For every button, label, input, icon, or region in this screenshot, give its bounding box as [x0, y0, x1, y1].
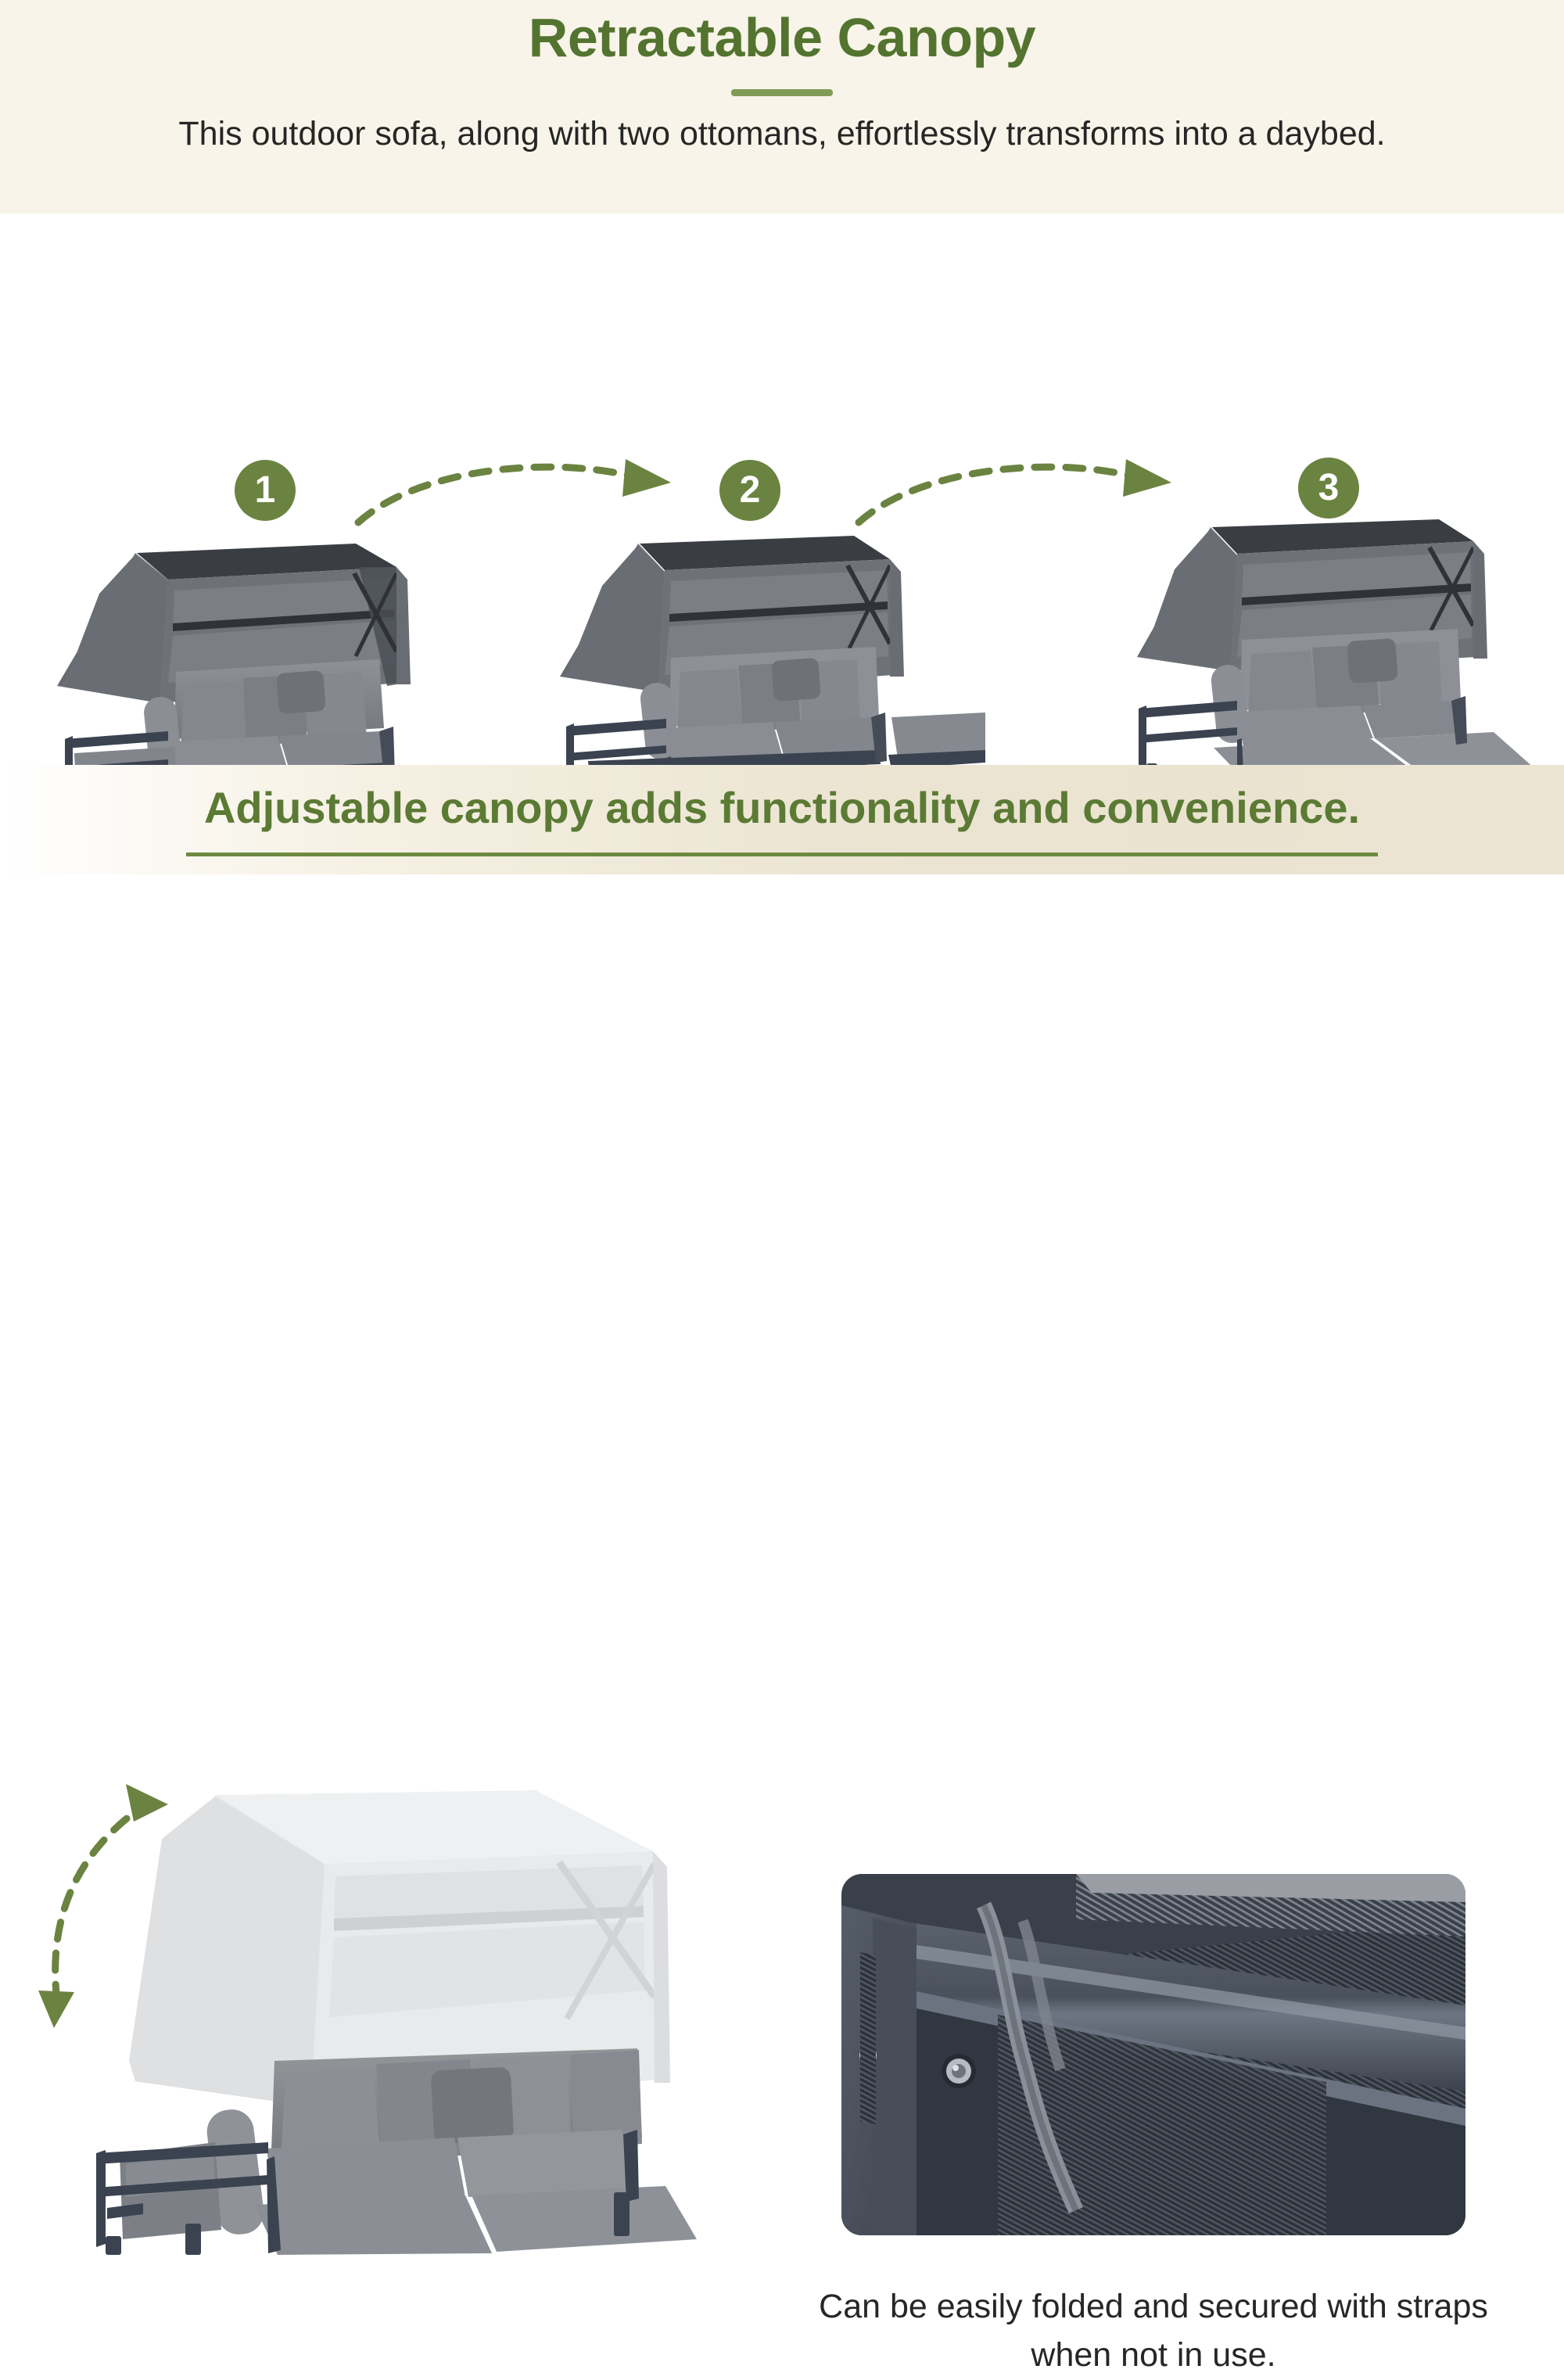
product-image-adjustable-canopy	[20, 1770, 723, 2255]
steps-section: 1 2 3	[0, 214, 1564, 765]
infographic-page: Retractable Canopy This outdoor sofa, al…	[0, 0, 1564, 1564]
page-subtitle: This outdoor sofa, along with two ottoma…	[0, 109, 1564, 158]
step-badge-2-label: 2	[740, 472, 761, 509]
page-title: Retractable Canopy	[0, 9, 1564, 67]
detail-photo-caption: Can be easily folded and secured with st…	[782, 2282, 1525, 2380]
step-badge-1-label: 1	[255, 472, 276, 509]
step-badge-3-label: 3	[1318, 469, 1340, 507]
mid-banner-underline-rule	[186, 853, 1378, 856]
header-band: Retractable Canopy This outdoor sofa, al…	[0, 0, 1564, 214]
title-underline-rule	[731, 89, 833, 96]
mid-banner-text: Adjustable canopy adds functionality and…	[0, 784, 1564, 832]
step-badge-2: 2	[719, 460, 780, 521]
bottom-section: Can be easily folded and secured with st…	[0, 874, 1564, 1564]
canopy-strap-detail-photo	[841, 1874, 1465, 2235]
step-badge-3: 3	[1298, 458, 1359, 519]
step-badge-1: 1	[235, 460, 296, 521]
